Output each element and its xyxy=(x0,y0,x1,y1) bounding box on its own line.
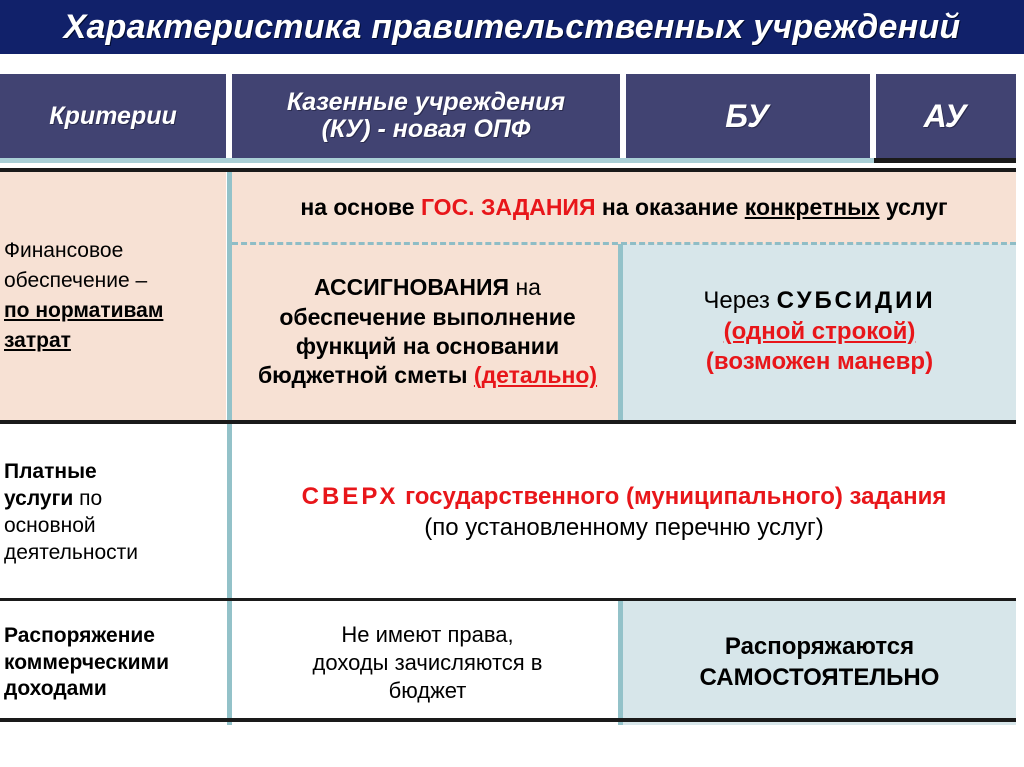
row2-criteria-line4: деятельности xyxy=(4,540,138,567)
row3-bu-cell: Распоряжаются САМОСТОЯТЕЛЬНО xyxy=(623,601,1016,725)
row2-span-line1: СВЕРХ государственного (муниципального) … xyxy=(302,482,947,513)
row2-span-line1-red: СВЕРХ xyxy=(302,483,399,510)
row1-ku-line1-strong: АССИГНОВАНИЯ xyxy=(314,274,509,300)
slide-root: Характеристика правительственных учрежде… xyxy=(0,0,1024,767)
header-label-bu: БУ xyxy=(725,99,769,134)
row3-ku-line3: бюджет xyxy=(389,677,467,705)
header-label-criteria: Критерии xyxy=(49,103,177,130)
row1-bu-cell: Через СУБСИДИИ (одной строкой) (возможен… xyxy=(623,244,1016,420)
header-underline-teal xyxy=(0,158,1016,163)
header-cell-bu: БУ xyxy=(624,74,870,158)
row1-bu-line1-strong: СУБСИДИИ xyxy=(777,287,936,314)
row1-banner-part3: на оказание xyxy=(596,194,745,220)
title-banner: Характеристика правительственных учрежде… xyxy=(0,0,1024,54)
row1-ku-line4: бюджетной сметы (детально) xyxy=(258,361,597,390)
row2-criteria-cell: Платные услуги по основной деятельности xyxy=(0,424,226,602)
header-separator-2 xyxy=(620,74,626,158)
row2-criteria-text: Платные услуги по основной деятельности xyxy=(4,459,138,567)
row1-bu-line2: (одной строкой) xyxy=(724,317,916,348)
row1-ku-line1-rest: на xyxy=(509,274,541,300)
row2-criteria-line2: услуги по xyxy=(4,486,138,513)
row1-bu-line1: Через СУБСИДИИ xyxy=(703,286,935,317)
header-cell-criteria: Критерии xyxy=(0,74,226,158)
row1-ku-line3: функций на основании xyxy=(296,332,559,361)
row1-ku-line1: АССИГНОВАНИЯ на xyxy=(314,273,541,302)
row1-banner-part2: ГОС. ЗАДАНИЯ xyxy=(421,194,596,220)
row1-criteria-line1: Финансовое xyxy=(4,236,123,266)
row2-criteria-line2-bold: услуги xyxy=(4,487,73,510)
header-separator-3 xyxy=(870,74,876,158)
row1-ku-line2: обеспечение выполнение xyxy=(279,303,575,332)
row3-bu-line1: Распоряжаются xyxy=(725,632,914,663)
header-label-ku-line1: Казенные учреждения xyxy=(287,89,565,116)
table-row: Распоряжение коммерческими доходами Не и… xyxy=(0,598,1016,722)
row1-criteria-cell: Финансовое обеспечение – по нормативам з… xyxy=(0,172,226,420)
row2-criteria-line3: основной xyxy=(4,513,138,540)
row2-span-line2: (по установленному перечню услуг) xyxy=(424,513,823,544)
row3-criteria-line3: доходами xyxy=(4,676,169,703)
table-bottom-border xyxy=(0,718,1016,722)
row1-banner-part1: на основе xyxy=(300,194,421,220)
row2-span-line1-rest: государственного (муниципального) задани… xyxy=(398,483,946,510)
row2-span-cell: СВЕРХ государственного (муниципального) … xyxy=(232,424,1016,602)
row3-criteria-text: Распоряжение коммерческими доходами xyxy=(4,623,169,704)
row1-bu-line3: (возможен маневр) xyxy=(706,347,933,378)
row3-criteria-line2: коммерческими xyxy=(4,650,169,677)
row1-banner-text: на основе ГОС. ЗАДАНИЯ на оказание конкр… xyxy=(300,193,947,222)
row2-criteria-line2-rest: по xyxy=(73,487,102,510)
row3-ku-line2: доходы зачисляются в xyxy=(313,649,543,677)
header-separator-1 xyxy=(226,74,232,158)
row2-criteria-line1: Платные xyxy=(4,459,138,486)
header-underline-dark xyxy=(874,158,1016,163)
row1-ku-line4-red: (детально) xyxy=(474,362,597,388)
row1-criteria-line2: обеспечение – xyxy=(4,266,147,296)
row3-ku-line1: Не имеют права, xyxy=(341,621,513,649)
page-title: Характеристика правительственных учрежде… xyxy=(64,8,961,47)
header-label-ku: Казенные учреждения (КУ) - новая ОПФ xyxy=(287,89,565,143)
table-header-row: Критерии Казенные учреждения (КУ) - нова… xyxy=(0,74,1016,158)
row3-bu-line2: САМОСТОЯТЕЛЬНО xyxy=(700,663,940,694)
comparison-table: Финансовое обеспечение – по нормативам з… xyxy=(0,168,1016,722)
row3-ku-cell: Не имеют права, доходы зачисляются в бюд… xyxy=(232,601,623,725)
row1-banner-cell: на основе ГОС. ЗАДАНИЯ на оказание конкр… xyxy=(232,172,1016,244)
header-cell-au: АУ xyxy=(874,74,1016,158)
header-label-ku-line2: (КУ) - новая ОПФ xyxy=(287,116,565,143)
header-cell-ku: Казенные учреждения (КУ) - новая ОПФ xyxy=(232,74,620,158)
table-row: Финансовое обеспечение – по нормативам з… xyxy=(0,172,1016,420)
row1-banner-part5: услуг xyxy=(880,194,948,220)
row1-criteria-line4: затрат xyxy=(4,326,71,356)
table-row: Платные услуги по основной деятельности … xyxy=(0,420,1016,598)
row3-criteria-cell: Распоряжение коммерческими доходами xyxy=(0,601,226,725)
row1-banner-part4: конкретных xyxy=(745,194,880,220)
row1-criteria-line3: по нормативам xyxy=(4,296,163,326)
row1-ku-line4-plain: бюджетной сметы xyxy=(258,362,474,388)
row3-criteria-line1: Распоряжение xyxy=(4,623,169,650)
row1-bu-line1-plain: Через xyxy=(703,287,776,314)
header-label-au: АУ xyxy=(924,99,967,134)
row1-ku-cell: АССИГНОВАНИЯ на обеспечение выполнение ф… xyxy=(232,244,623,420)
